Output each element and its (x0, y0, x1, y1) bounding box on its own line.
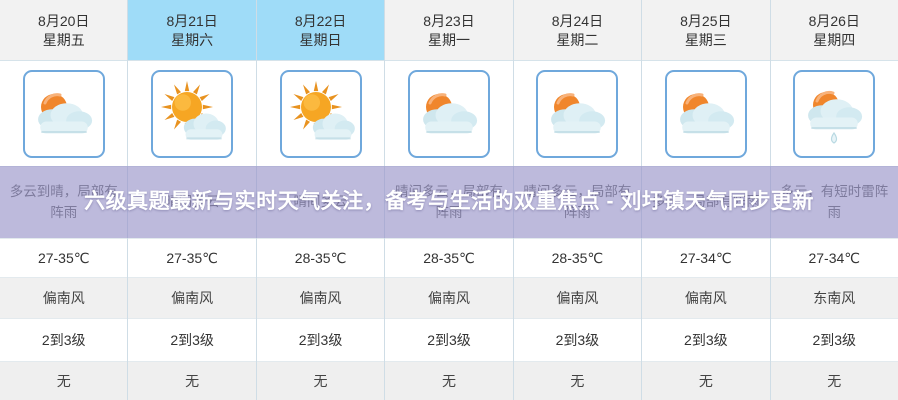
temperature-value: 27-35℃ (38, 250, 90, 267)
temperature-cell: 27-35℃ (0, 238, 127, 277)
forecast-day-column[interactable]: 8月23日星期一晴间多云，局部有阵雨28-35℃偏南风2到3级无 (385, 0, 513, 400)
sun-cloud-icon (151, 70, 233, 158)
weather-icon-cell (128, 61, 255, 166)
weather-icon-cell (257, 61, 384, 166)
weather-description-cell: 多云到晴，局部有阵雨 (0, 166, 127, 238)
weather-description: 多云到晴，局部有阵雨 (6, 182, 121, 224)
extra-info-cell: 无 (771, 361, 898, 400)
sun-cloud-icon (280, 70, 362, 158)
weather-description: 晴间多云，局部有阵雨 (391, 182, 506, 224)
temperature-cell: 28-35℃ (385, 238, 512, 277)
weather-description: 晴间多云 (165, 192, 219, 213)
wind-level-value: 2到3级 (812, 330, 856, 350)
wind-direction-cell: 偏南风 (385, 277, 512, 318)
day-header: 8月25日星期三 (642, 0, 769, 61)
weekday-label: 星期六 (171, 33, 213, 47)
date-label: 8月23日 (423, 14, 474, 28)
weather-description-cell: 晴间多云 (128, 166, 255, 238)
forecast-day-column[interactable]: 8月25日星期三多云，局部有阵雨27-34℃偏南风2到3级无 (642, 0, 770, 400)
wind-direction-cell: 偏南风 (0, 277, 127, 318)
day-header: 8月22日星期日 (257, 0, 384, 61)
day-header: 8月23日星期一 (385, 0, 512, 61)
wind-direction-cell: 偏南风 (642, 277, 769, 318)
wind-level-value: 2到3级 (42, 330, 86, 350)
wind-level-value: 2到3级 (299, 330, 343, 350)
forecast-day-column[interactable]: 8月20日星期五多云到晴，局部有阵雨27-35℃偏南风2到3级无 (0, 0, 128, 400)
weather-description-cell: 晴间多云，局部有阵雨 (385, 166, 512, 238)
wind-direction-cell: 偏南风 (128, 277, 255, 318)
date-label: 8月22日 (295, 14, 346, 28)
date-label: 8月20日 (38, 14, 89, 28)
day-header: 8月24日星期二 (514, 0, 641, 61)
date-label: 8月26日 (809, 14, 860, 28)
cloudy-sun-icon (536, 70, 618, 158)
forecast-day-column[interactable]: 8月24日星期二晴间多云，局部有阵雨28-35℃偏南风2到3级无 (514, 0, 642, 400)
wind-level-cell: 2到3级 (0, 318, 127, 361)
weather-icon-cell (0, 61, 127, 166)
date-label: 8月25日 (680, 14, 731, 28)
temperature-value: 27-35℃ (166, 250, 218, 267)
date-label: 8月21日 (166, 14, 217, 28)
wind-level-value: 2到3级 (427, 330, 471, 350)
wind-direction-value: 东南风 (813, 288, 855, 308)
temperature-cell: 28-35℃ (257, 238, 384, 277)
temperature-value: 28-35℃ (295, 250, 347, 267)
cloudy-sun-icon (23, 70, 105, 158)
wind-level-value: 2到3级 (170, 330, 214, 350)
wind-direction-cell: 偏南风 (257, 277, 384, 318)
extra-info-cell: 无 (257, 361, 384, 400)
extra-info-value: 无 (442, 371, 456, 391)
weekday-label: 星期日 (300, 33, 342, 47)
wind-level-cell: 2到3级 (128, 318, 255, 361)
wind-level-cell: 2到3级 (642, 318, 769, 361)
wind-level-cell: 2到3级 (771, 318, 898, 361)
extra-info-value: 无 (699, 371, 713, 391)
weather-icon-cell (514, 61, 641, 166)
extra-info-value: 无 (570, 371, 584, 391)
extra-info-cell: 无 (128, 361, 255, 400)
forecast-table: 8月20日星期五多云到晴，局部有阵雨27-35℃偏南风2到3级无8月21日星期六… (0, 0, 898, 400)
wind-level-value: 2到3级 (556, 330, 600, 350)
weather-description-cell: 多云，有短时雷阵雨 (771, 166, 898, 238)
weather-forecast-page: 8月20日星期五多云到晴，局部有阵雨27-35℃偏南风2到3级无8月21日星期六… (0, 0, 898, 400)
forecast-day-column[interactable]: 8月22日星期日晴间多云28-35℃偏南风2到3级无 (257, 0, 385, 400)
weather-description-cell: 多云，局部有阵雨 (642, 166, 769, 238)
weather-description-cell: 晴间多云 (257, 166, 384, 238)
extra-info-cell: 无 (514, 361, 641, 400)
wind-level-cell: 2到3级 (385, 318, 512, 361)
wind-direction-cell: 东南风 (771, 277, 898, 318)
temperature-value: 28-35℃ (552, 250, 604, 267)
weekday-label: 星期三 (685, 33, 727, 47)
day-header: 8月26日星期四 (771, 0, 898, 61)
forecast-day-column[interactable]: 8月26日星期四多云，有短时雷阵雨27-34℃东南风2到3级无 (771, 0, 898, 400)
wind-direction-value: 偏南风 (171, 288, 213, 308)
extra-info-cell: 无 (642, 361, 769, 400)
weather-description: 晴间多云，局部有阵雨 (520, 182, 635, 224)
extra-info-value: 无 (57, 371, 71, 391)
weekday-label: 星期一 (428, 33, 470, 47)
wind-direction-value: 偏南风 (556, 288, 598, 308)
weekday-label: 星期四 (813, 33, 855, 47)
weather-icon-cell (642, 61, 769, 166)
weather-description: 晴间多云 (294, 192, 348, 213)
wind-direction-value: 偏南风 (300, 288, 342, 308)
temperature-value: 27-34℃ (808, 250, 860, 267)
date-label: 8月24日 (552, 14, 603, 28)
extra-info-cell: 无 (0, 361, 127, 400)
cloudy-rain-icon (793, 70, 875, 158)
weekday-label: 星期五 (43, 33, 85, 47)
temperature-value: 27-34℃ (680, 250, 732, 267)
temperature-value: 28-35℃ (423, 250, 475, 267)
wind-level-cell: 2到3级 (257, 318, 384, 361)
weather-icon-cell (385, 61, 512, 166)
forecast-day-column[interactable]: 8月21日星期六晴间多云27-35℃偏南风2到3级无 (128, 0, 256, 400)
temperature-cell: 27-34℃ (642, 238, 769, 277)
weather-description-cell: 晴间多云，局部有阵雨 (514, 166, 641, 238)
weather-description: 多云，有短时雷阵雨 (777, 182, 892, 224)
wind-level-value: 2到3级 (684, 330, 728, 350)
extra-info-value: 无 (827, 371, 841, 391)
temperature-cell: 27-34℃ (771, 238, 898, 277)
weather-icon-cell (771, 61, 898, 166)
wind-level-cell: 2到3级 (514, 318, 641, 361)
extra-info-cell: 无 (385, 361, 512, 400)
extra-info-value: 无 (314, 371, 328, 391)
weather-description: 多云，局部有阵雨 (652, 192, 760, 213)
cloudy-sun-icon (408, 70, 490, 158)
day-header: 8月21日星期六 (128, 0, 255, 61)
wind-direction-value: 偏南风 (685, 288, 727, 308)
cloudy-sun-icon (665, 70, 747, 158)
temperature-cell: 28-35℃ (514, 238, 641, 277)
temperature-cell: 27-35℃ (128, 238, 255, 277)
wind-direction-value: 偏南风 (428, 288, 470, 308)
wind-direction-value: 偏南风 (43, 288, 85, 308)
extra-info-value: 无 (185, 371, 199, 391)
weekday-label: 星期二 (556, 33, 598, 47)
wind-direction-cell: 偏南风 (514, 277, 641, 318)
day-header: 8月20日星期五 (0, 0, 127, 61)
